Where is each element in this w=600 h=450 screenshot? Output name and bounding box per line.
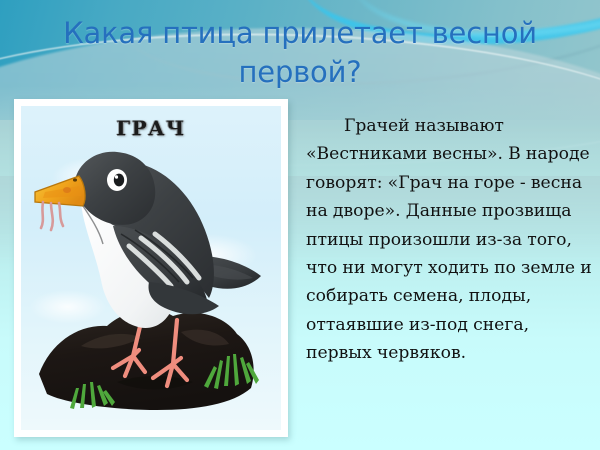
slide-title: Какая птица прилетает весной первой? — [20, 14, 580, 92]
picture-frame: ГРАЧ — [14, 99, 288, 437]
body-paragraph: Грачей называют «Вестниками весны». В на… — [306, 112, 592, 368]
worms-in-beak — [41, 202, 63, 230]
picture-canvas: ГРАЧ — [21, 106, 281, 430]
rook-illustration — [21, 106, 281, 430]
bird-pupil — [114, 174, 124, 187]
picture-caption: ГРАЧ — [21, 116, 281, 140]
slide: Какая птица прилетает весной первой? — [0, 0, 600, 450]
